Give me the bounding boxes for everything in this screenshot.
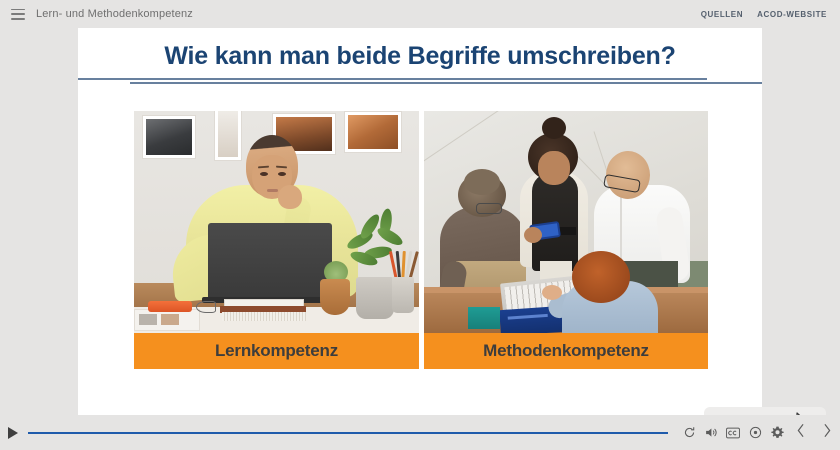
person-a-hair-top <box>464 169 500 195</box>
divider-top <box>78 78 707 80</box>
link-acod-website[interactable]: ACOD-WEBSITE <box>757 10 827 19</box>
person-eye <box>278 172 286 176</box>
volume-button[interactable] <box>700 415 722 450</box>
seek-progress <box>28 432 668 434</box>
next-slide-button[interactable] <box>814 415 840 450</box>
laptop <box>208 223 332 299</box>
closed-captions-icon <box>726 427 740 439</box>
replay-icon <box>683 426 696 439</box>
wall-frame <box>214 111 242 161</box>
slide-canvas: Wie kann man beide Begriffe umschreiben? <box>78 28 762 415</box>
person-b-hand <box>524 227 542 243</box>
person-b-bun <box>542 117 566 139</box>
card-lernkompetenz[interactable]: Lernkompetenz <box>134 111 419 369</box>
person-d-hair <box>572 251 630 303</box>
card-row: Lernkompetenz <box>134 111 708 369</box>
player-controls <box>0 415 840 450</box>
succulent-pot <box>320 279 350 315</box>
hamburger-line <box>11 9 25 11</box>
photo-woman-at-laptop <box>134 111 419 333</box>
timer-button[interactable] <box>744 415 766 450</box>
link-quellen[interactable]: QUELLEN <box>701 10 743 19</box>
top-bar-links: QUELLEN ACOD-WEBSITE <box>701 10 840 19</box>
card-caption-lernkompetenz: Lernkompetenz <box>134 333 419 369</box>
page-title: Wie kann man beide Begriffe umschreiben? <box>78 42 762 71</box>
divider-bottom <box>130 82 762 84</box>
seek-track <box>28 432 668 434</box>
play-button[interactable] <box>0 415 26 450</box>
hamburger-menu-icon[interactable] <box>11 9 25 20</box>
photo-team-overhead <box>424 111 709 333</box>
replay-button[interactable] <box>678 415 700 450</box>
wall-frame <box>142 115 196 159</box>
person-eye <box>260 172 268 176</box>
previous-slide-button[interactable] <box>788 415 814 450</box>
elearning-player: Lern- und Methodenkompetenz QUELLEN ACOD… <box>0 0 840 450</box>
course-title: Lern- und Methodenkompetenz <box>36 8 193 20</box>
timer-icon <box>749 426 762 439</box>
captions-button[interactable] <box>722 415 744 450</box>
card-caption-methodenkompetenz: Methodenkompetenz <box>424 333 709 369</box>
red-case <box>148 301 192 312</box>
person-b-face <box>538 151 570 185</box>
play-icon <box>8 427 18 439</box>
person-hand <box>278 185 302 209</box>
person-mouth <box>267 189 278 192</box>
book <box>222 312 306 321</box>
pencil-cup <box>392 277 414 313</box>
wall-frame <box>344 111 402 153</box>
volume-icon <box>704 426 718 439</box>
settings-button[interactable] <box>766 415 788 450</box>
card-methodenkompetenz[interactable]: Methodenkompetenz <box>424 111 709 369</box>
plant-pot <box>356 277 394 319</box>
hamburger-line <box>11 18 25 20</box>
person-a-glasses <box>476 203 502 214</box>
papers <box>134 309 200 331</box>
top-bar: Lern- und Methodenkompetenz QUELLEN ACOD… <box>0 0 840 28</box>
chevron-left-icon <box>796 423 806 443</box>
hamburger-line <box>11 13 25 15</box>
teal-notebook <box>468 307 500 329</box>
chevron-right-icon <box>822 423 832 443</box>
settings-gear-icon <box>771 426 784 439</box>
seek-bar[interactable] <box>28 427 668 439</box>
person-d-hand <box>542 285 562 300</box>
scissors <box>196 301 216 313</box>
